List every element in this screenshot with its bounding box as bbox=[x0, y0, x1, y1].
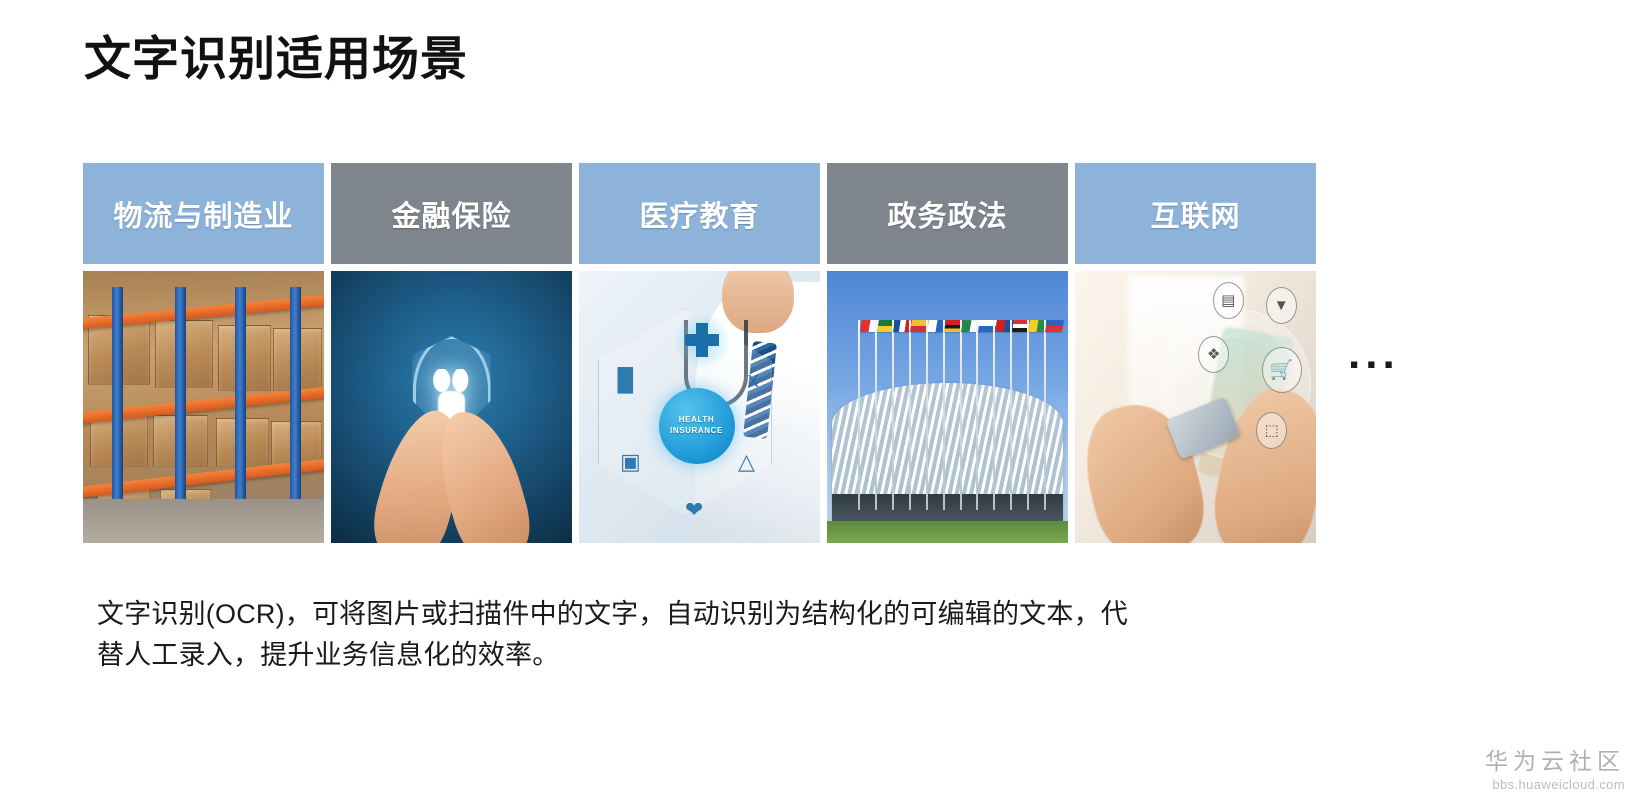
test-tube-icon: █ bbox=[618, 369, 634, 391]
doctor-health-insurance-photo: x █ ▣ △ ❤ HEALTH INSURANCE bbox=[579, 271, 820, 543]
price-tag-icon: ▼ bbox=[1266, 287, 1297, 324]
page-title: 文字识别适用场景 bbox=[84, 32, 468, 86]
scenario-card-list: 物流与制造业 bbox=[83, 163, 1323, 543]
scenario-card-logistics[interactable]: 物流与制造业 bbox=[83, 163, 324, 543]
heart-icon: ❤ bbox=[685, 499, 703, 521]
scenario-card-medical-education-header: 医疗教育 bbox=[579, 163, 820, 264]
watermark-brand: 华为云社区 bbox=[1485, 747, 1625, 776]
description-paragraph: 文字识别(OCR)，可将图片或扫描件中的文字，自动识别为结构化的可编辑的文本，代… bbox=[97, 594, 1257, 675]
scenario-card-government-law-header: 政务政法 bbox=[827, 163, 1068, 264]
scenario-card-government-law[interactable]: 政务政法 bbox=[827, 163, 1068, 543]
medical-cross-icon bbox=[685, 323, 719, 357]
scenario-card-finance-insurance[interactable]: 金融保险 bbox=[331, 163, 572, 543]
watermark: 华为云社区 bbs.huaweicloud.com bbox=[1485, 747, 1625, 792]
more-scenarios-ellipsis: ... bbox=[1348, 332, 1400, 376]
health-insurance-badge: HEALTH INSURANCE bbox=[659, 388, 735, 464]
cart-icon: 🛒 bbox=[1262, 347, 1302, 393]
scenario-card-internet-header: 互联网 bbox=[1075, 163, 1316, 264]
scenario-card-internet[interactable]: 互联网 ▤ ▼ ❖ 🛒 ⬚ bbox=[1075, 163, 1316, 543]
watermark-url: bbs.huaweicloud.com bbox=[1485, 777, 1625, 792]
online-shopping-photo: ▤ ▼ ❖ 🛒 ⬚ bbox=[1075, 271, 1316, 543]
scenario-card-medical-education[interactable]: 医疗教育 x █ ▣ △ ❤ HEALTH bbox=[579, 163, 820, 543]
warehouse-racking-photo bbox=[83, 271, 324, 543]
government-building-flags-photo bbox=[827, 271, 1068, 543]
scenario-card-logistics-header: 物流与制造业 bbox=[83, 163, 324, 264]
flask-icon: △ bbox=[738, 451, 755, 473]
insurance-shield-photo bbox=[331, 271, 572, 543]
description-line-2: 替人工录入，提升业务信息化的效率。 bbox=[97, 640, 559, 670]
flag-icon bbox=[1045, 320, 1064, 332]
scenario-card-finance-insurance-header: 金融保险 bbox=[331, 163, 572, 264]
health-insurance-line1: HEALTH bbox=[679, 415, 714, 426]
microscope-icon: ▣ bbox=[620, 451, 641, 473]
shopping-bag-icon: ▤ bbox=[1213, 282, 1244, 319]
slide-root: 文字识别适用场景 物流与制造业 bbox=[0, 0, 1647, 810]
health-insurance-line2: INSURANCE bbox=[670, 426, 723, 437]
dna-icon: x bbox=[748, 369, 759, 391]
description-line-1: 文字识别(OCR)，可将图片或扫描件中的文字，自动识别为结构化的可编辑的文本，代 bbox=[97, 599, 1128, 629]
